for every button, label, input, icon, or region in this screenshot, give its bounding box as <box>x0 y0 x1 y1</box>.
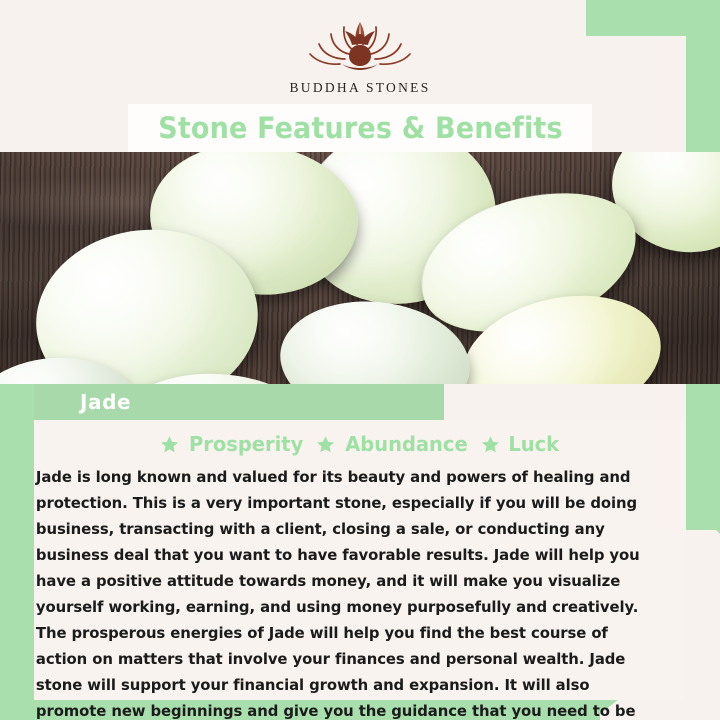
lotus-meditation-icon <box>299 16 421 76</box>
keyword-label: Prosperity <box>189 432 303 456</box>
stone-name-band: Jade <box>34 384 444 420</box>
keyword-label: Abundance <box>345 432 467 456</box>
keyword-label: Luck <box>508 432 559 456</box>
infographic-page: BUDDHA STONES Stone Features & Benefits … <box>0 0 720 720</box>
brand-name: BUDDHA STONES <box>289 80 430 96</box>
stone-photo <box>0 152 720 384</box>
keyword-item: Luck <box>481 432 560 456</box>
keyword-row: Prosperity Abundance Luck <box>34 420 686 456</box>
star-icon <box>316 435 335 454</box>
page-header: BUDDHA STONES <box>0 0 720 152</box>
keyword-item: Prosperity <box>160 432 306 456</box>
keyword-item: Abundance <box>316 432 471 456</box>
content-card: Prosperity Abundance Luck Jade is long k… <box>34 420 686 700</box>
star-icon <box>160 435 179 454</box>
stone-name: Jade <box>80 390 131 414</box>
star-icon <box>481 435 500 454</box>
stone-description: Jade is long known and valued for its be… <box>34 464 663 720</box>
brand-logo: BUDDHA STONES <box>289 16 430 96</box>
